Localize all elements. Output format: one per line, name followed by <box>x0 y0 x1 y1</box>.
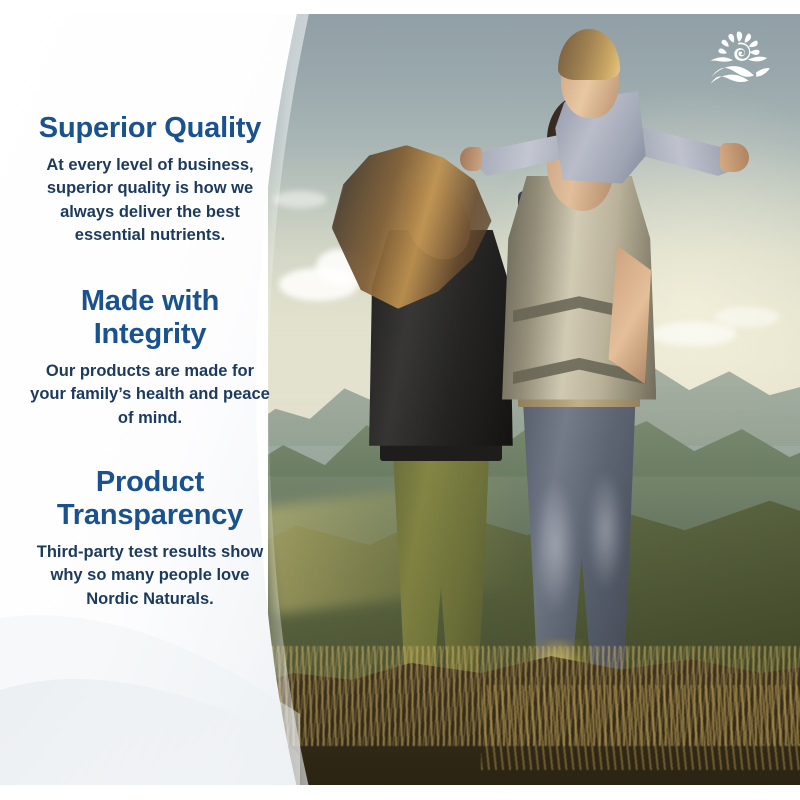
dry-grass-texture <box>481 685 800 770</box>
value-title: Product Transparency <box>19 466 281 532</box>
bottom-white-frame <box>0 785 800 800</box>
cloud <box>715 307 779 327</box>
photo-scene <box>268 14 800 785</box>
value-body: At every level of business, superior qua… <box>19 154 281 248</box>
value-body: Third-party test results show why so man… <box>19 541 281 611</box>
child-hand-left <box>460 147 482 172</box>
value-body: Our products are made for your family’s … <box>19 360 281 430</box>
value-title: Superior Quality <box>19 112 281 145</box>
family-photo <box>268 14 800 785</box>
value-block-superior-quality: Superior Quality At every level of busin… <box>19 112 281 247</box>
cloud <box>651 322 736 345</box>
top-white-frame <box>0 0 800 14</box>
jeans-highlight <box>587 469 624 592</box>
brand-values-banner: Superior Quality At every level of busin… <box>0 0 800 800</box>
sun-wave-logo-icon <box>708 30 772 88</box>
value-title: Made with Integrity <box>19 285 281 351</box>
values-panel: Superior Quality At every level of busin… <box>0 0 300 800</box>
value-block-product-transparency: Product Transparency Third-party test re… <box>19 466 281 611</box>
value-block-made-with-integrity: Made with Integrity Our products are mad… <box>19 285 281 430</box>
jeans-highlight <box>534 477 577 616</box>
